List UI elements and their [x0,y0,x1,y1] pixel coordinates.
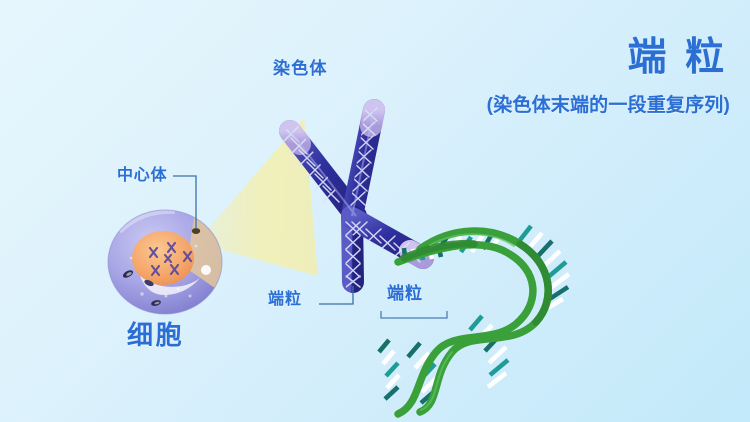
label-cell: 细胞 [127,322,184,348]
page-subtitle: (染色体末端的一段重复序列) [487,96,730,115]
telomere-dna-bracket [381,311,447,318]
label-telomere-dna: 端粒 [387,285,423,302]
page-title: 端 粒 [627,38,728,77]
dna-double-helix [379,226,569,414]
diagram-canvas: 端 粒 (染色体末端的一段重复序列) 染色体 中心体 细胞 端粒 端粒 [0,0,750,422]
label-chromosome: 染色体 [273,60,328,77]
label-centrosome: 中心体 [117,168,167,184]
label-telomere-chromosome: 端粒 [268,292,302,308]
